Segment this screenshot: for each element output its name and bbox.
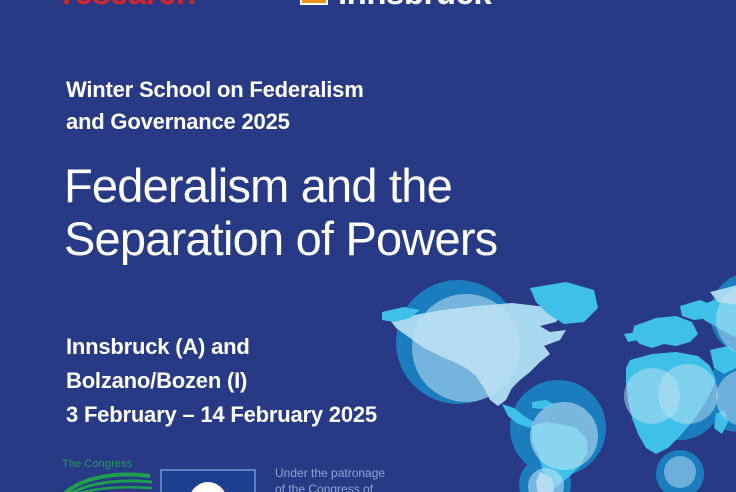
patronage-line-2: of the Congress of [275,482,485,492]
patronage-line-1: Under the patronage [275,466,485,482]
university-innsbruck-logo: innsbruck [300,0,491,12]
series-line-1: Winter School on Federalism [66,74,496,106]
orange-square-mark-icon [300,0,328,5]
congress-logo: The Congress [62,458,154,492]
event-dates: 3 February – 14 February 2025 [66,398,486,432]
venue-line-2: Bolzano/Bozen (I) [66,364,486,398]
top-logo-strip: research innsbruck [0,0,736,14]
patronage-note: Under the patronage of the Congress of [275,466,485,492]
series-line-2: and Governance 2025 [66,106,496,138]
venue-line-1: Innsbruck (A) and [66,330,486,364]
footer-logo-bar: The Congress Under the patronage of the … [0,452,736,492]
title-line-2: Separation of Powers [64,213,624,266]
page-title: Federalism and the Separation of Powers [64,160,624,265]
congress-logo-label: The Congress [62,458,154,470]
poster-canvas: research innsbruck Winter School on Fede… [0,0,736,492]
event-series-name: Winter School on Federalism and Governan… [66,74,496,138]
council-of-europe-logo [160,469,256,492]
congress-swoosh-icon [62,470,154,492]
title-line-1: Federalism and the [64,160,624,213]
research-wordmark: research [62,0,196,12]
innsbruck-wordmark: innsbruck [338,0,491,12]
venue-and-dates: Innsbruck (A) and Bolzano/Bozen (I) 3 Fe… [66,330,486,432]
coe-emblem-icon [188,482,228,492]
